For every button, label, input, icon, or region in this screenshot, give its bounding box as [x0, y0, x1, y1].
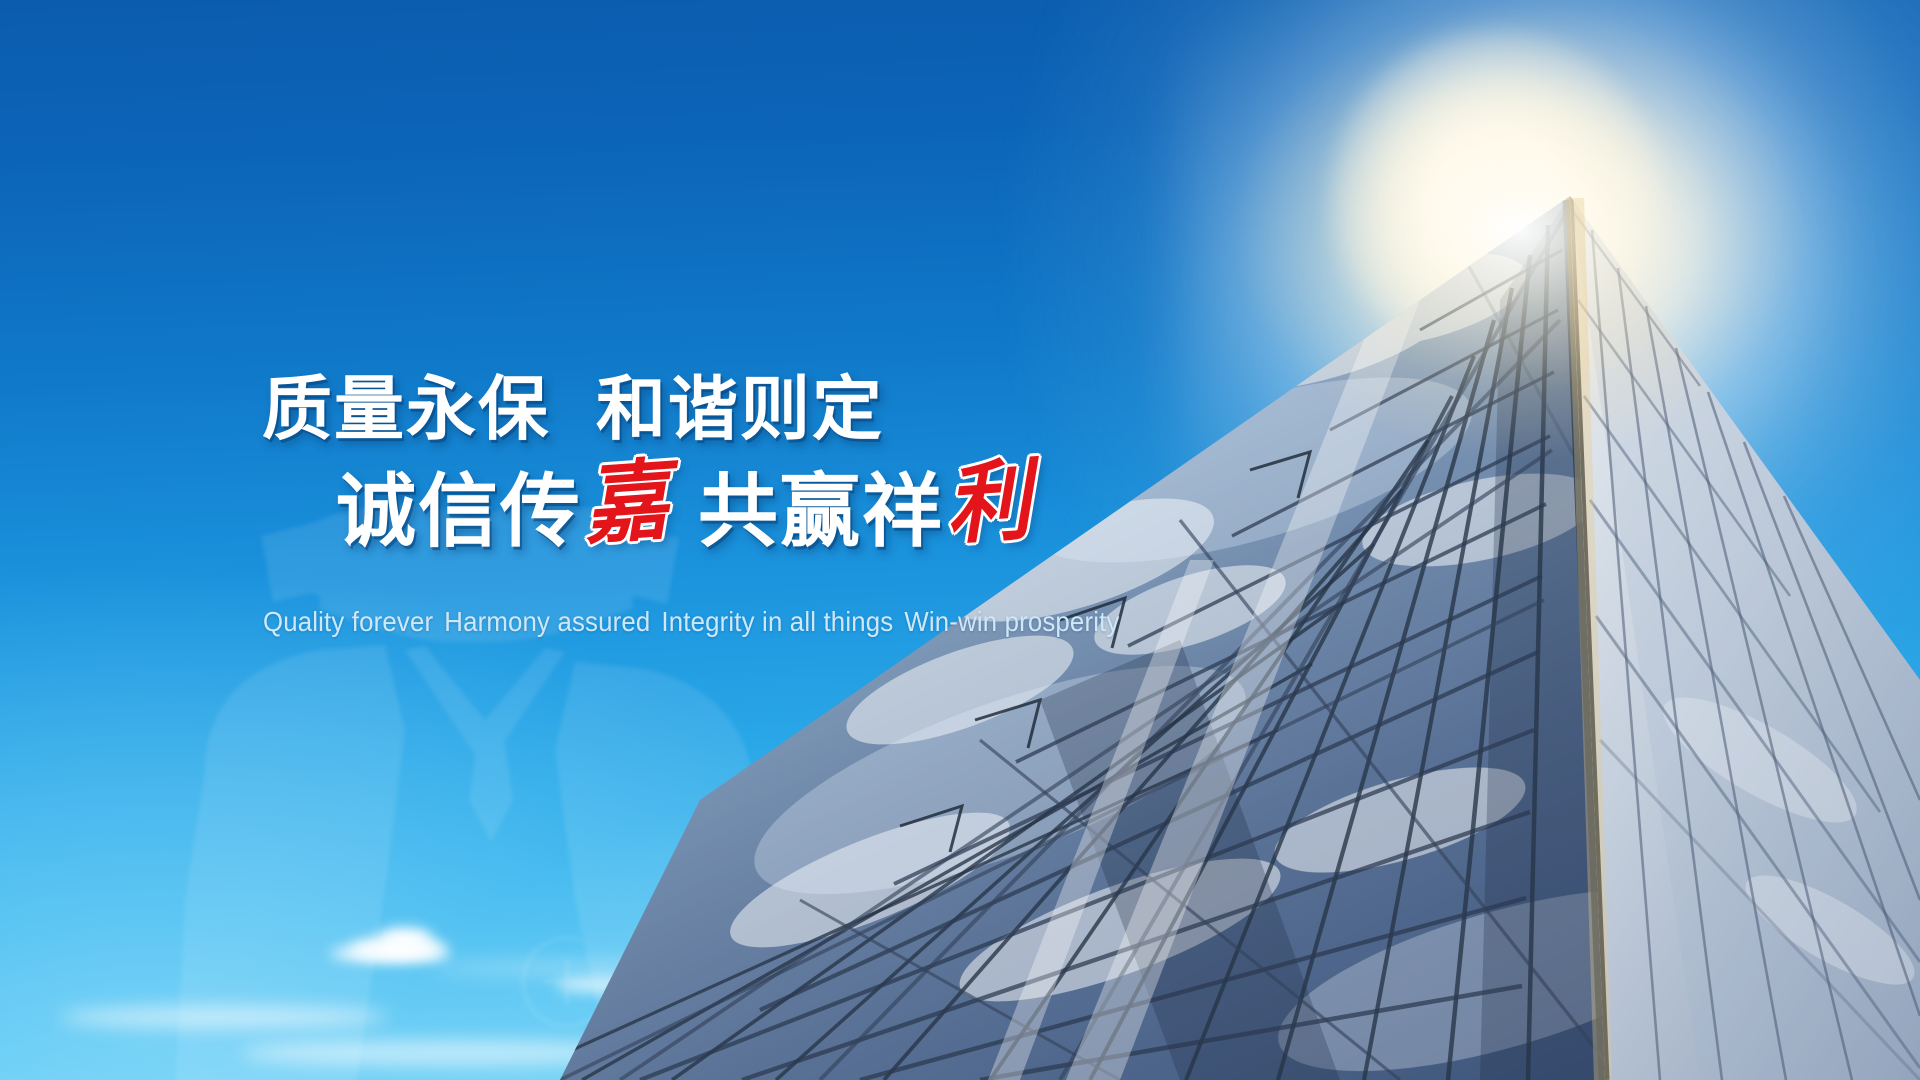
glass-building-photo: [0, 0, 1920, 1080]
hero-banner: 质量永保和谐则定 诚信传嘉共赢祥利 Quality foreverHarmony…: [0, 0, 1920, 1080]
